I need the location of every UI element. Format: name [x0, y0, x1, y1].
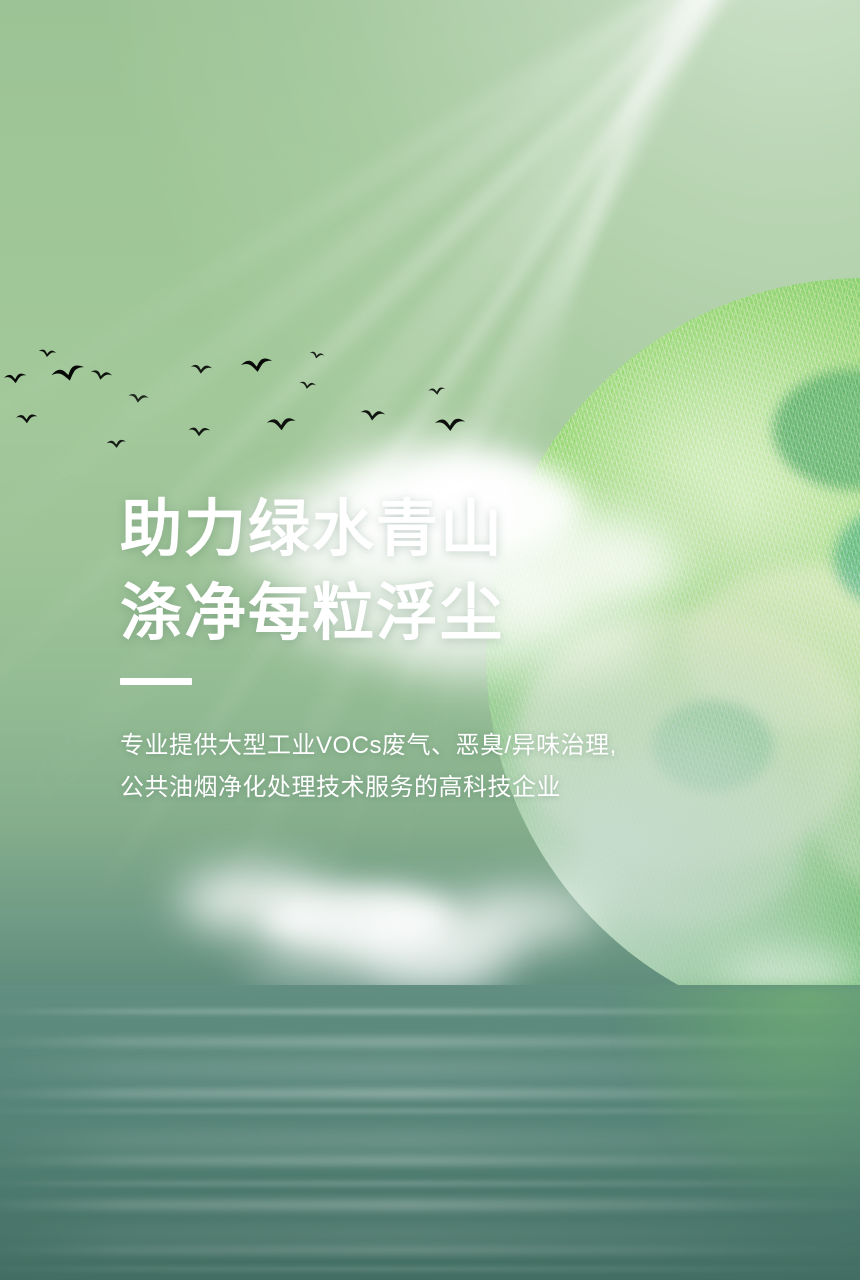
subtitle-line-1: 专业提供大型工业VOCs废气、恶臭/异味治理,	[120, 727, 680, 765]
bird-icon	[309, 351, 325, 360]
bird-icon	[266, 418, 296, 431]
bird-icon	[38, 349, 56, 358]
bird-icon	[51, 364, 87, 385]
copy-block: 助力绿水青山 涤净每粒浮尘 专业提供大型工业VOCs废气、恶臭/异味治理, 公共…	[120, 488, 680, 807]
bottom-vignette	[0, 1120, 860, 1280]
cloud	[470, 889, 600, 941]
bird-icon	[107, 440, 127, 449]
poster-banner: 助力绿水青山 涤净每粒浮尘 专业提供大型工业VOCs废气、恶臭/异味治理, 公共…	[0, 0, 860, 1280]
bird-icon	[128, 393, 149, 403]
bird-icon	[241, 358, 274, 375]
cloud-cluster-low	[150, 845, 620, 1005]
cloud	[370, 944, 500, 982]
headline-line-2: 涤净每粒浮尘	[120, 572, 680, 656]
subtitle-line-2: 公共油烟净化处理技术服务的高科技企业	[120, 769, 680, 807]
title-divider	[120, 678, 192, 685]
bird-icon	[360, 410, 386, 422]
bird-icon	[4, 373, 28, 384]
bird-icon	[428, 387, 446, 396]
bird-icon	[299, 381, 317, 390]
bird-flock	[0, 330, 470, 470]
headline-line-1: 助力绿水青山	[120, 488, 680, 572]
bird-icon	[190, 364, 212, 374]
bird-icon	[188, 427, 210, 436]
bird-icon	[90, 370, 113, 382]
bird-icon	[435, 418, 466, 431]
bird-icon	[16, 414, 38, 424]
